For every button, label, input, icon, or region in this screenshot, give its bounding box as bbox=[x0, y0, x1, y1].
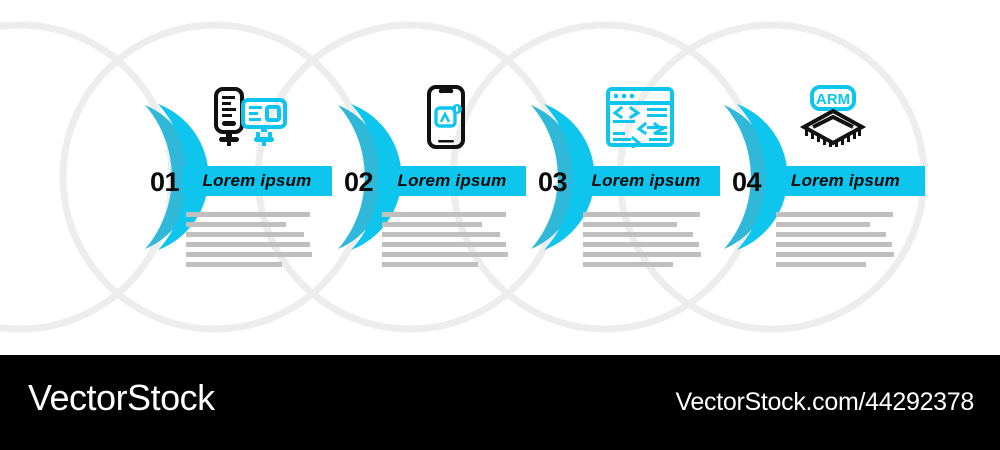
step-label-02: Lorem ipsum bbox=[398, 171, 507, 191]
step-banner-04[interactable]: Lorem ipsum bbox=[766, 166, 925, 196]
arm-processor-chip-icon: ARM bbox=[708, 82, 958, 152]
arm-text: ARM bbox=[816, 91, 850, 108]
step-text-lines-03 bbox=[583, 212, 701, 272]
step-banner-02[interactable]: Lorem ipsum bbox=[378, 166, 526, 196]
step-text-lines-04 bbox=[776, 212, 894, 272]
browser-dots bbox=[614, 94, 635, 99]
step-text-lines-02 bbox=[382, 212, 508, 272]
step-label-03: Lorem ipsum bbox=[592, 171, 701, 191]
vectorstock-credit: VectorStock.com/44292378 bbox=[675, 388, 974, 417]
watermark-footer: VectorStock VectorStock.com/44292378 bbox=[0, 355, 1000, 450]
step-number-04: 04 bbox=[732, 167, 761, 198]
vectorstock-brand: VectorStock bbox=[28, 377, 215, 419]
step-04[interactable]: ARM Lore bbox=[0, 0, 250, 355]
step-banner-03[interactable]: Lorem ipsum bbox=[572, 166, 720, 196]
step-label-04: Lorem ipsum bbox=[791, 171, 900, 191]
step-number-03: 03 bbox=[538, 167, 567, 198]
step-number-02: 02 bbox=[344, 167, 373, 198]
step-number-01: 01 bbox=[150, 167, 179, 198]
infographic-canvas: Lorem ipsum 01 bbox=[0, 0, 1000, 355]
